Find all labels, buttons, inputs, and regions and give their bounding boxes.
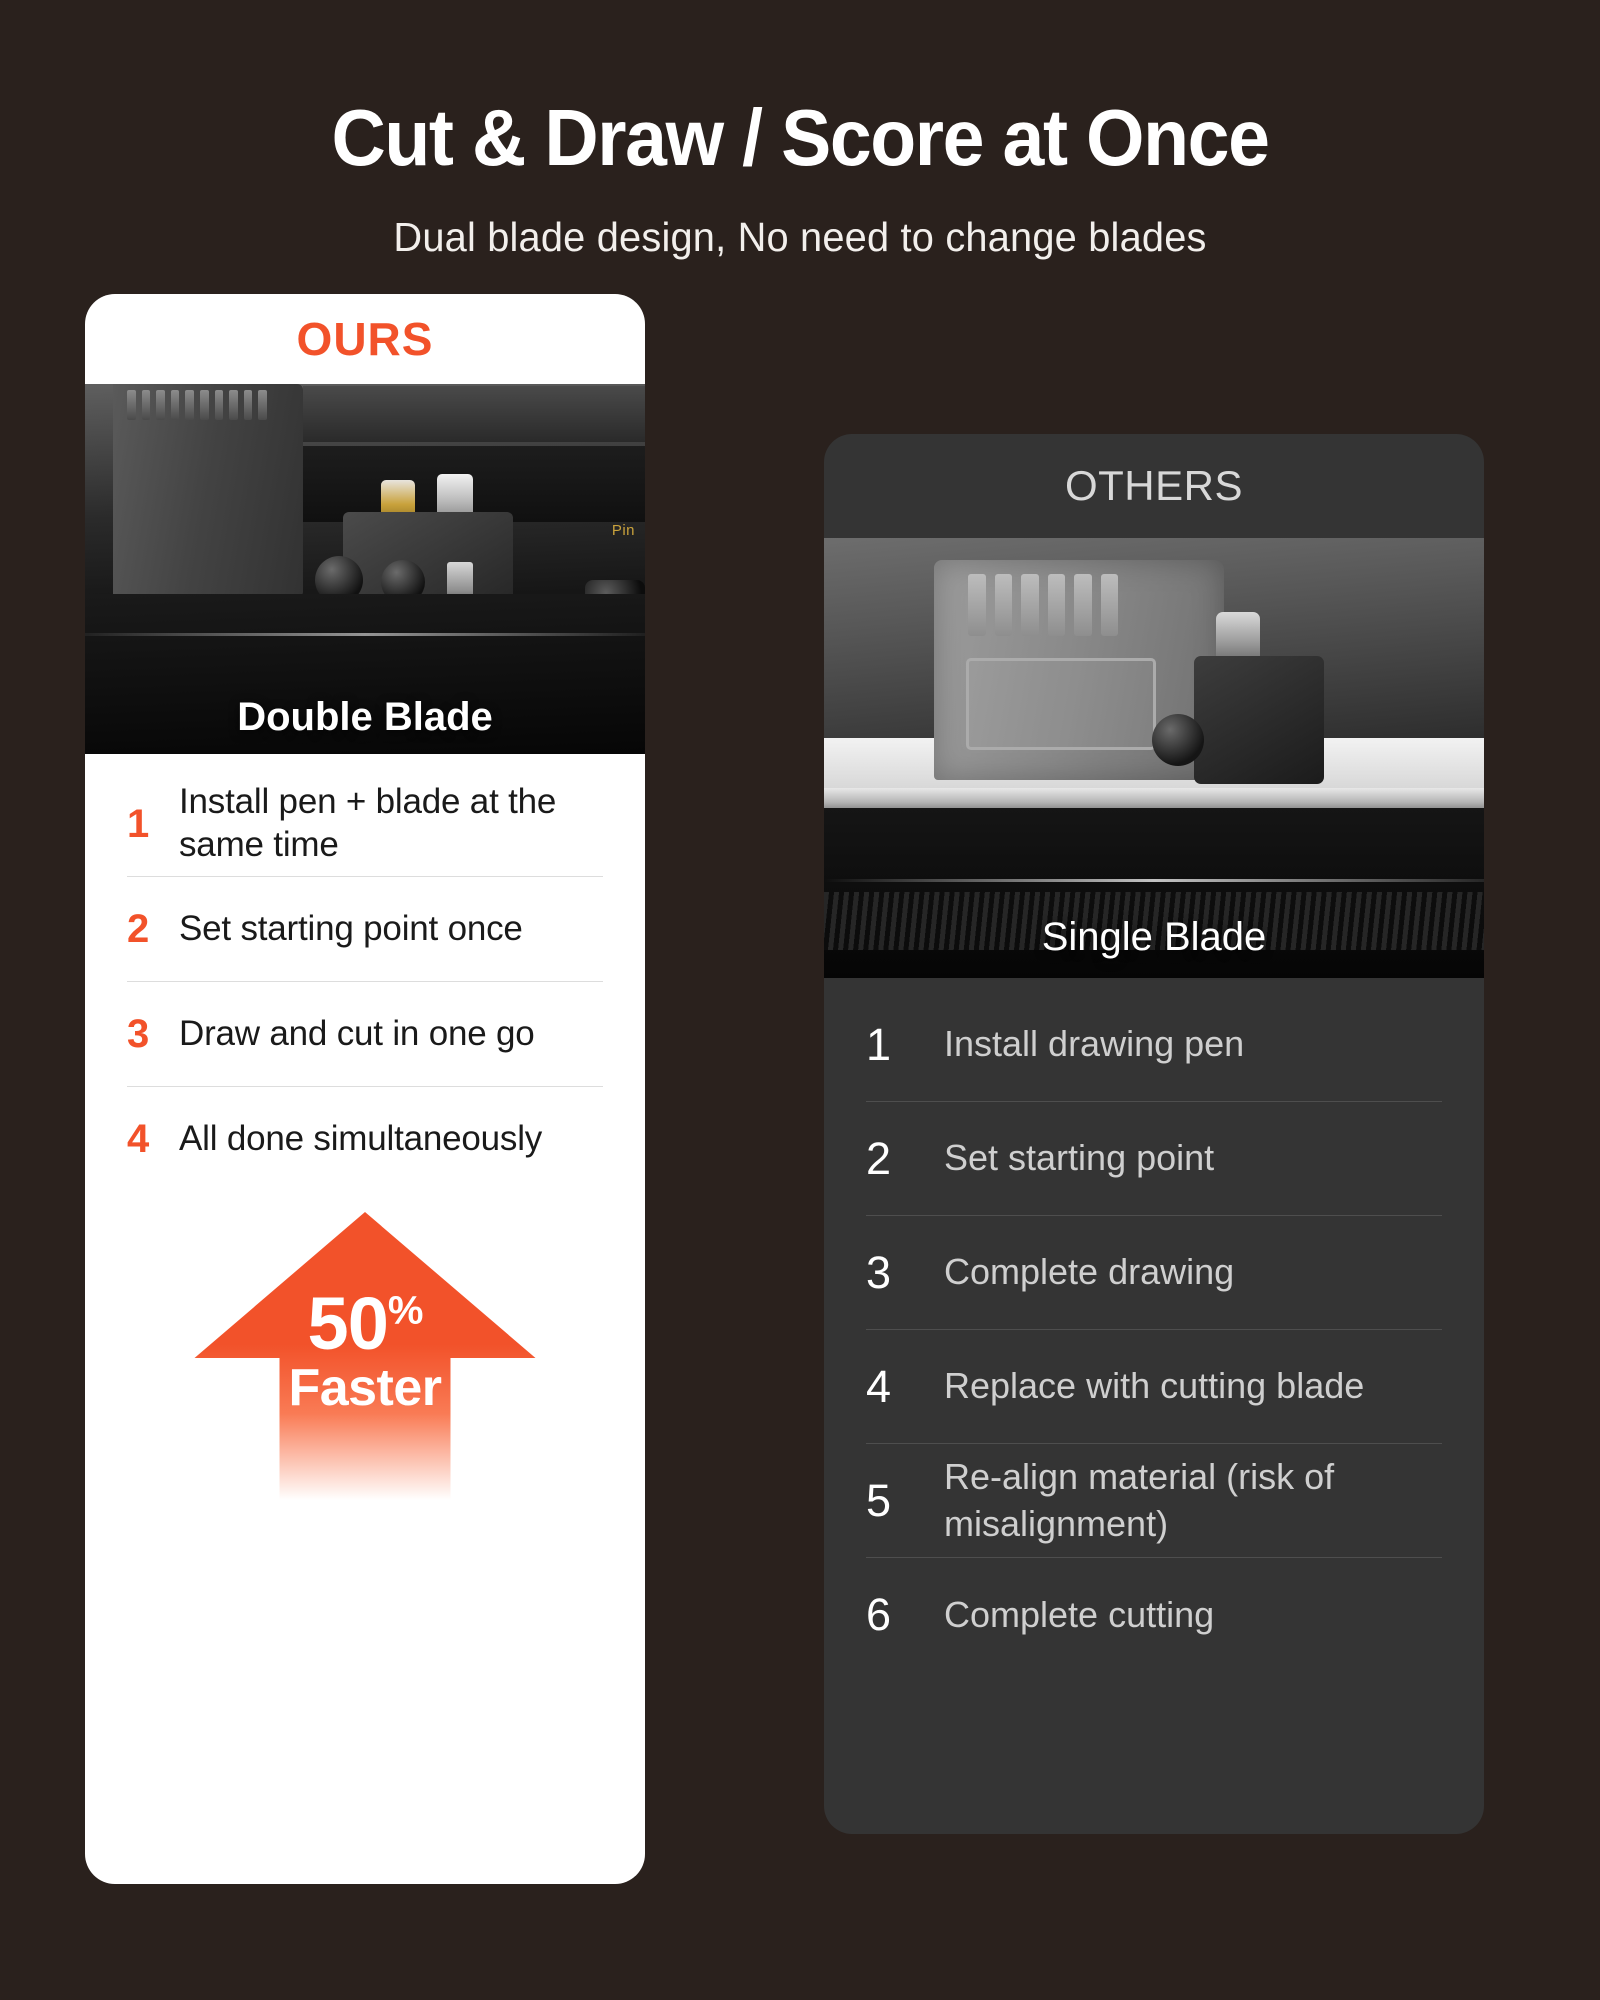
step-text: Install pen + blade at the same time [179, 781, 603, 866]
list-item: 1 Install drawing pen [866, 988, 1442, 1102]
list-item: 4 All done simultaneously [127, 1087, 603, 1192]
others-machine-panel [966, 658, 1156, 750]
others-machine-photo: Single Blade [824, 538, 1484, 978]
up-arrow-icon [193, 1210, 538, 1500]
step-number: 1 [127, 802, 179, 847]
others-steps-list: 1 Install drawing pen 2 Set starting poi… [824, 978, 1484, 1672]
step-text: Re-align material (risk of misalignment) [944, 1454, 1442, 1546]
list-item: 3 Draw and cut in one go [127, 982, 603, 1087]
step-number: 4 [127, 1117, 179, 1162]
ours-machine-body [113, 384, 303, 596]
ours-mid-rail [303, 446, 645, 522]
step-text: Set starting point [944, 1135, 1214, 1181]
ours-card-header: OURS [85, 294, 645, 384]
list-item: 6 Complete cutting [866, 1558, 1442, 1672]
step-text: Set starting point once [179, 908, 523, 951]
ours-top-rail [303, 386, 645, 442]
ours-carriage [343, 512, 513, 604]
step-text: Replace with cutting blade [944, 1363, 1364, 1409]
ours-bed-highlight [85, 633, 645, 636]
ours-badge: OURS [297, 312, 434, 366]
step-number: 3 [866, 1247, 944, 1299]
step-text: All done simultaneously [179, 1118, 542, 1161]
list-item: 1 Install pen + blade at the same time [127, 772, 603, 877]
ours-card: OURS Pin Double Blade 1 [85, 294, 645, 1884]
others-carriage [1194, 656, 1324, 784]
ours-machine-photo: Pin Double Blade [85, 384, 645, 754]
others-badge: OTHERS [1065, 462, 1243, 510]
step-number: 5 [866, 1475, 944, 1527]
step-number: 6 [866, 1589, 944, 1641]
others-roller [1152, 714, 1204, 766]
step-number: 4 [866, 1361, 944, 1413]
comparison-section: OTHERS Single Blade 1 Install drawing pe… [0, 0, 1600, 2000]
step-text: Draw and cut in one go [179, 1013, 535, 1056]
others-card-header: OTHERS [824, 434, 1484, 538]
list-item: 5 Re-align material (risk of misalignmen… [866, 1444, 1442, 1558]
step-text: Complete cutting [944, 1592, 1214, 1638]
step-text: Complete drawing [944, 1249, 1234, 1295]
step-number: 2 [127, 907, 179, 952]
pin-label: Pin [612, 522, 635, 539]
step-number: 3 [127, 1012, 179, 1057]
step-number: 2 [866, 1133, 944, 1185]
others-card: OTHERS Single Blade 1 Install drawing pe… [824, 434, 1484, 1834]
ours-vent-grille [127, 390, 267, 420]
others-bed-highlight [824, 879, 1484, 882]
step-text: Install drawing pen [944, 1021, 1244, 1067]
list-item: 4 Replace with cutting blade [866, 1330, 1442, 1444]
others-photo-caption: Single Blade [824, 915, 1484, 960]
step-number: 1 [866, 1019, 944, 1071]
others-vent-grille [968, 574, 1118, 636]
list-item: 2 Set starting point [866, 1102, 1442, 1216]
ours-steps-list: 1 Install pen + blade at the same time 2… [85, 754, 645, 1192]
faster-highlight: 50% Faster [85, 1210, 645, 1500]
list-item: 3 Complete drawing [866, 1216, 1442, 1330]
list-item: 2 Set starting point once [127, 877, 603, 982]
ours-photo-caption: Double Blade [85, 695, 645, 740]
